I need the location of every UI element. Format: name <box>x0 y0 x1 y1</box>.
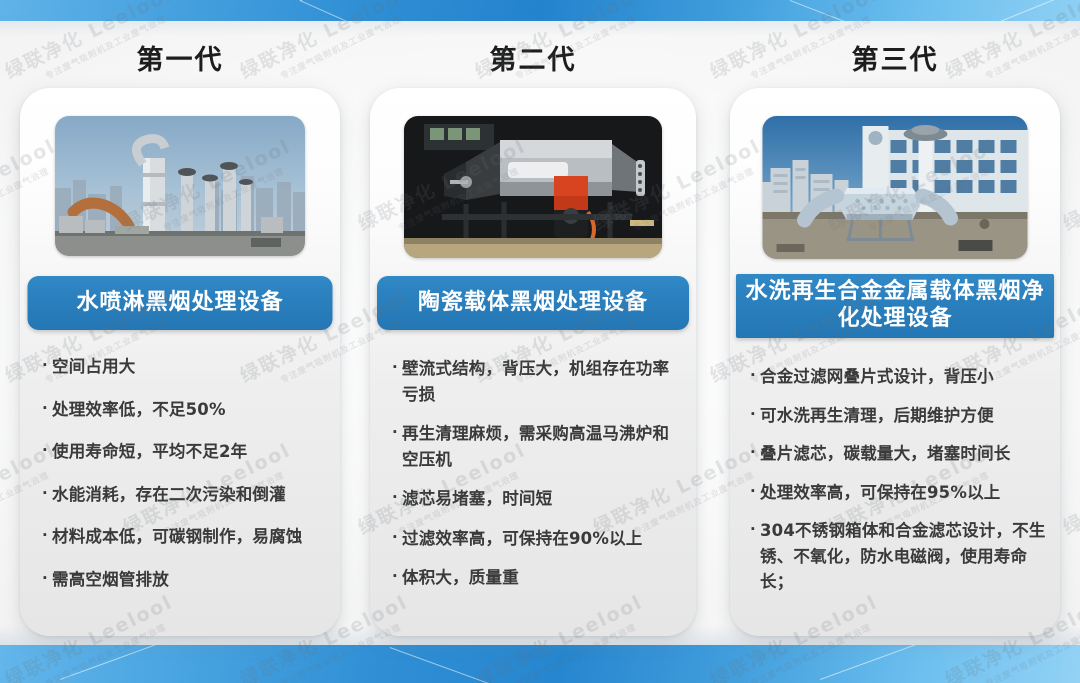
bottom-decorative-band <box>0 645 1080 683</box>
list-item: · 再生清理麻烦，需采购高温马沸炉和空压机 <box>392 421 682 472</box>
feature-list-2: · 壁流式结构，背压大，机组存在功率亏损 · 再生清理麻烦，需采购高温马沸炉和空… <box>370 356 696 605</box>
band-ray <box>390 647 700 683</box>
band-ray <box>820 645 1080 680</box>
band-ray <box>300 0 419 21</box>
list-item-text: 再生清理麻烦，需采购高温马沸炉和空压机 <box>402 421 682 472</box>
bullet-dot-icon: · <box>392 526 401 549</box>
equipment-photo-3 <box>763 116 1028 259</box>
top-decorative-band <box>0 0 1080 21</box>
bullet-dot-icon: · <box>750 441 759 464</box>
list-item: · 处理效率低，不足50% <box>42 397 322 423</box>
generation-heading-2: 第二代 <box>370 38 696 77</box>
bullet-dot-icon: · <box>42 354 51 377</box>
bullet-dot-icon: · <box>42 482 51 505</box>
list-item-text: 叠片滤芯，碳载量大，堵塞时间长 <box>760 441 1050 467</box>
bullet-dot-icon: · <box>42 439 51 462</box>
list-item: · 处理效率高，可保持在95%以上 <box>750 480 1050 506</box>
slide-canvas: 第一代 第二代 第三代 <box>0 0 1080 683</box>
list-item: · 叠片滤芯，碳载量大，堵塞时间长 <box>750 441 1050 467</box>
bullet-dot-icon: · <box>42 567 51 590</box>
list-item: · 滤芯易堵塞，时间短 <box>392 486 682 512</box>
generation-heading-1: 第一代 <box>20 38 340 77</box>
list-item: · 过滤效率高，可保持在90%以上 <box>392 526 682 552</box>
list-item: · 水能消耗，存在二次污染和倒灌 <box>42 482 322 508</box>
list-item-text: 空间占用大 <box>52 354 322 380</box>
list-item: · 合金过滤网叠片式设计，背压小 <box>750 364 1050 390</box>
feature-list-3: · 合金过滤网叠片式设计，背压小 · 可水洗再生清理，后期维护方便 · 叠片滤芯… <box>730 364 1060 608</box>
list-item-text: 使用寿命短，平均不足2年 <box>52 439 322 465</box>
list-item-text: 滤芯易堵塞，时间短 <box>402 486 682 512</box>
list-item-text: 水能消耗，存在二次污染和倒灌 <box>52 482 322 508</box>
list-item-text: 壁流式结构，背压大，机组存在功率亏损 <box>402 356 682 407</box>
list-item: · 304不锈钢箱体和合金滤芯设计，不生锈、不氧化，防水电磁阀，使用寿命长； <box>750 518 1050 595</box>
bullet-dot-icon: · <box>750 364 759 387</box>
list-item: · 材料成本低，可碳钢制作，易腐蚀 <box>42 524 322 550</box>
bullet-dot-icon: · <box>750 403 759 426</box>
list-item-text: 过滤效率高，可保持在90%以上 <box>402 526 682 552</box>
equipment-photo-2 <box>404 116 662 258</box>
feature-list-1: · 空间占用大 · 处理效率低，不足50% · 使用寿命短，平均不足2年 · 水… <box>20 354 340 609</box>
bullet-dot-icon: · <box>392 356 401 379</box>
band-ray <box>790 0 930 21</box>
list-item: · 需高空烟管排放 <box>42 567 322 593</box>
generation-card-2[interactable]: 陶瓷载体黑烟处理设备 · 壁流式结构，背压大，机组存在功率亏损 · 再生清理麻烦… <box>370 88 696 636</box>
band-ray <box>60 645 370 680</box>
list-item-text: 304不锈钢箱体和合金滤芯设计，不生锈、不氧化，防水电磁阀，使用寿命长； <box>760 518 1050 595</box>
card-title-1: 水喷淋黑烟处理设备 <box>28 276 333 330</box>
list-item-text: 需高空烟管排放 <box>52 567 322 593</box>
list-item-text: 合金过滤网叠片式设计，背压小 <box>760 364 1050 390</box>
generation-card-3[interactable]: 水洗再生合金金属载体黑烟净化处理设备 · 合金过滤网叠片式设计，背压小 · 可水… <box>730 88 1060 636</box>
bullet-dot-icon: · <box>750 518 759 541</box>
watermark-text: 绿联净化 Leelool专注废气吸附机及工业废气治理 <box>1058 131 1080 248</box>
card-title-3: 水洗再生合金金属载体黑烟净化处理设备 <box>736 274 1054 338</box>
list-item: · 空间占用大 <box>42 354 322 380</box>
list-item: · 壁流式结构，背压大，机组存在功率亏损 <box>392 356 682 407</box>
list-item: · 可水洗再生清理，后期维护方便 <box>750 403 1050 429</box>
list-item-text: 体积大，质量重 <box>402 565 682 591</box>
generation-heading-3: 第三代 <box>730 38 1060 77</box>
bullet-dot-icon: · <box>42 524 51 547</box>
bullet-dot-icon: · <box>750 480 759 503</box>
list-item-text: 处理效率高，可保持在95%以上 <box>760 480 1050 506</box>
list-item: · 体积大，质量重 <box>392 565 682 591</box>
card-title-2: 陶瓷载体黑烟处理设备 <box>377 276 689 330</box>
list-item-text: 处理效率低，不足50% <box>52 397 322 423</box>
band-ray <box>1000 0 1080 21</box>
generation-card-1[interactable]: 水喷淋黑烟处理设备 · 空间占用大 · 处理效率低，不足50% · 使用寿命短，… <box>20 88 340 636</box>
bullet-dot-icon: · <box>42 397 51 420</box>
bullet-dot-icon: · <box>392 421 401 444</box>
bullet-dot-icon: · <box>392 486 401 509</box>
bullet-dot-icon: · <box>392 565 401 588</box>
band-ray <box>300 0 443 1</box>
list-item-text: 材料成本低，可碳钢制作，易腐蚀 <box>52 524 322 550</box>
watermark-text: 绿联净化 Leelool专注废气吸附机及工业废气治理 <box>1058 435 1080 552</box>
equipment-photo-1 <box>55 116 305 256</box>
list-item-text: 可水洗再生清理，后期维护方便 <box>760 403 1050 429</box>
list-item: · 使用寿命短，平均不足2年 <box>42 439 322 465</box>
top-band-shadow <box>0 21 1080 37</box>
